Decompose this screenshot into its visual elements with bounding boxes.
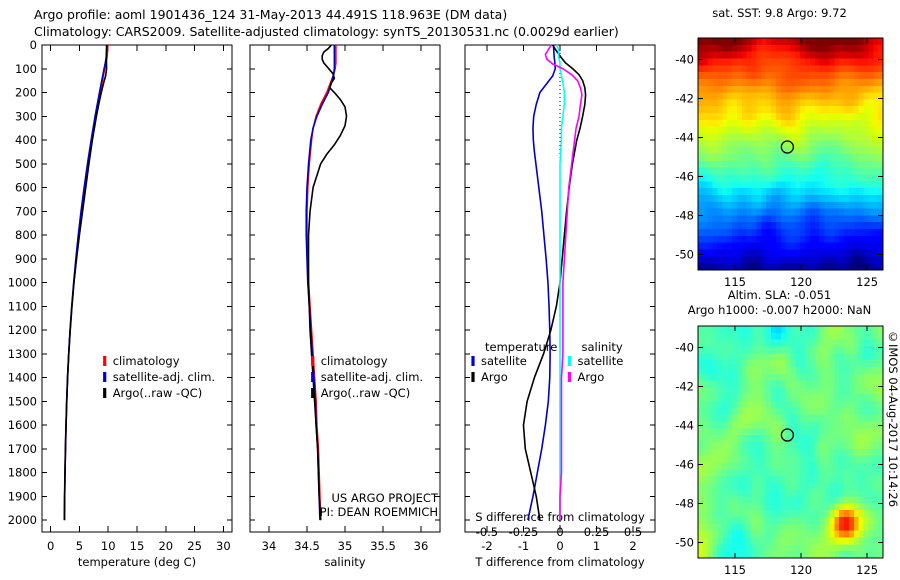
svg-text:salinity: salinity bbox=[324, 555, 365, 569]
svg-text:34.5: 34.5 bbox=[294, 539, 320, 553]
svg-text:800: 800 bbox=[15, 228, 37, 242]
svg-text:-42: -42 bbox=[675, 379, 694, 393]
svg-text:-48: -48 bbox=[675, 208, 694, 222]
svg-text:-40: -40 bbox=[675, 340, 694, 354]
svg-text:climatology: climatology bbox=[321, 354, 388, 368]
svg-text:-1: -1 bbox=[518, 539, 529, 553]
svg-text:T difference from climatology: T difference from climatology bbox=[474, 555, 645, 569]
svg-text:satellite: satellite bbox=[578, 354, 624, 368]
svg-text:-50: -50 bbox=[675, 535, 694, 549]
svg-text:35.5: 35.5 bbox=[370, 539, 396, 553]
temperature-panel: 0100200300400500600700800900100011001200… bbox=[0, 40, 240, 580]
svg-text:0.5: 0.5 bbox=[624, 525, 642, 539]
svg-text:1400: 1400 bbox=[8, 371, 37, 385]
svg-text:temperature (deg C): temperature (deg C) bbox=[78, 555, 196, 569]
svg-text:0: 0 bbox=[47, 539, 54, 553]
svg-text:125: 125 bbox=[856, 275, 878, 289]
svg-text:125: 125 bbox=[856, 563, 878, 577]
svg-text:1600: 1600 bbox=[8, 418, 37, 432]
svg-text:120: 120 bbox=[790, 275, 812, 289]
svg-text:1500: 1500 bbox=[8, 394, 37, 408]
salinity-panel: 3434.53535.536salinityclimatologysatelli… bbox=[240, 40, 465, 580]
svg-text:900: 900 bbox=[15, 252, 37, 266]
copyright-label: ©IMOS 04-Aug-2017 10:14:26 bbox=[880, 330, 900, 560]
sst-map-title: sat. SST: 9.8 Argo: 9.72 bbox=[672, 6, 887, 20]
svg-text:34: 34 bbox=[262, 539, 277, 553]
svg-text:-40: -40 bbox=[675, 52, 694, 66]
svg-text:15: 15 bbox=[130, 539, 145, 553]
svg-text:1200: 1200 bbox=[8, 323, 37, 337]
svg-text:Argo: Argo bbox=[481, 370, 508, 384]
page-title: Argo profile: aoml 1901436_124 31-May-20… bbox=[34, 6, 654, 40]
svg-text:-2: -2 bbox=[481, 539, 492, 553]
svg-text:600: 600 bbox=[15, 181, 37, 195]
svg-text:200: 200 bbox=[15, 86, 37, 100]
svg-text:5: 5 bbox=[76, 539, 83, 553]
svg-text:20: 20 bbox=[158, 539, 173, 553]
svg-text:1900: 1900 bbox=[8, 489, 37, 503]
svg-text:500: 500 bbox=[15, 157, 37, 171]
svg-text:100: 100 bbox=[15, 62, 37, 76]
sla-map: -40-42-44-46-48-50115120125 bbox=[660, 318, 900, 580]
svg-text:300: 300 bbox=[15, 109, 37, 123]
svg-text:satellite-adj. clim.: satellite-adj. clim. bbox=[113, 370, 215, 384]
svg-text:salinity: salinity bbox=[582, 340, 623, 354]
svg-text:-46: -46 bbox=[675, 457, 694, 471]
sla-map-title-line-1: Altim. SLA: -0.051 bbox=[672, 288, 887, 302]
sst-map: -40-42-44-46-48-50115120125 bbox=[660, 22, 900, 292]
svg-text:-44: -44 bbox=[675, 130, 694, 144]
title-line-1: Argo profile: aoml 1901436_124 31-May-20… bbox=[34, 6, 654, 23]
svg-text:0.25: 0.25 bbox=[584, 525, 610, 539]
svg-text:1800: 1800 bbox=[8, 466, 37, 480]
svg-text:10: 10 bbox=[101, 539, 116, 553]
svg-text:25: 25 bbox=[187, 539, 202, 553]
svg-text:-44: -44 bbox=[675, 418, 694, 432]
svg-text:US ARGO PROJECT: US ARGO PROJECT bbox=[331, 491, 439, 505]
svg-text:climatology: climatology bbox=[113, 354, 180, 368]
sla-map-title-line-2: Argo h1000: -0.007 h2000: NaN bbox=[662, 303, 897, 317]
svg-text:700: 700 bbox=[15, 204, 37, 218]
svg-text:Argo(..raw -QC): Argo(..raw -QC) bbox=[321, 386, 411, 400]
svg-text:temperature: temperature bbox=[485, 340, 557, 354]
svg-text:1: 1 bbox=[593, 539, 600, 553]
svg-text:0: 0 bbox=[556, 539, 563, 553]
svg-text:satellite-adj. clim.: satellite-adj. clim. bbox=[321, 370, 423, 384]
svg-text:120: 120 bbox=[790, 563, 812, 577]
svg-text:-0.25: -0.25 bbox=[509, 525, 539, 539]
svg-text:30: 30 bbox=[216, 539, 231, 553]
svg-text:115: 115 bbox=[724, 275, 746, 289]
svg-text:0: 0 bbox=[30, 38, 37, 52]
svg-text:2000: 2000 bbox=[8, 513, 37, 527]
svg-text:1700: 1700 bbox=[8, 442, 37, 456]
svg-text:1300: 1300 bbox=[8, 347, 37, 361]
svg-text:2: 2 bbox=[629, 539, 636, 553]
svg-text:-42: -42 bbox=[675, 91, 694, 105]
difference-panel: -2-1012T difference from climatology-0.5… bbox=[455, 40, 670, 580]
title-line-2: Climatology: CARS2009. Satellite-adjuste… bbox=[34, 23, 654, 40]
svg-text:1000: 1000 bbox=[8, 276, 37, 290]
svg-text:1100: 1100 bbox=[8, 299, 37, 313]
svg-text:satellite: satellite bbox=[481, 354, 527, 368]
svg-text:400: 400 bbox=[15, 133, 37, 147]
svg-text:-0.5: -0.5 bbox=[476, 525, 498, 539]
svg-text:Argo: Argo bbox=[578, 370, 605, 384]
svg-text:-46: -46 bbox=[675, 169, 694, 183]
svg-text:115: 115 bbox=[724, 563, 746, 577]
svg-text:35: 35 bbox=[338, 539, 353, 553]
svg-text:-50: -50 bbox=[675, 247, 694, 261]
svg-text:PI: DEAN ROEMMICH: PI: DEAN ROEMMICH bbox=[320, 505, 438, 519]
svg-text:36: 36 bbox=[414, 539, 429, 553]
svg-text:Argo(..raw -QC): Argo(..raw -QC) bbox=[113, 386, 203, 400]
svg-text:-48: -48 bbox=[675, 496, 694, 510]
